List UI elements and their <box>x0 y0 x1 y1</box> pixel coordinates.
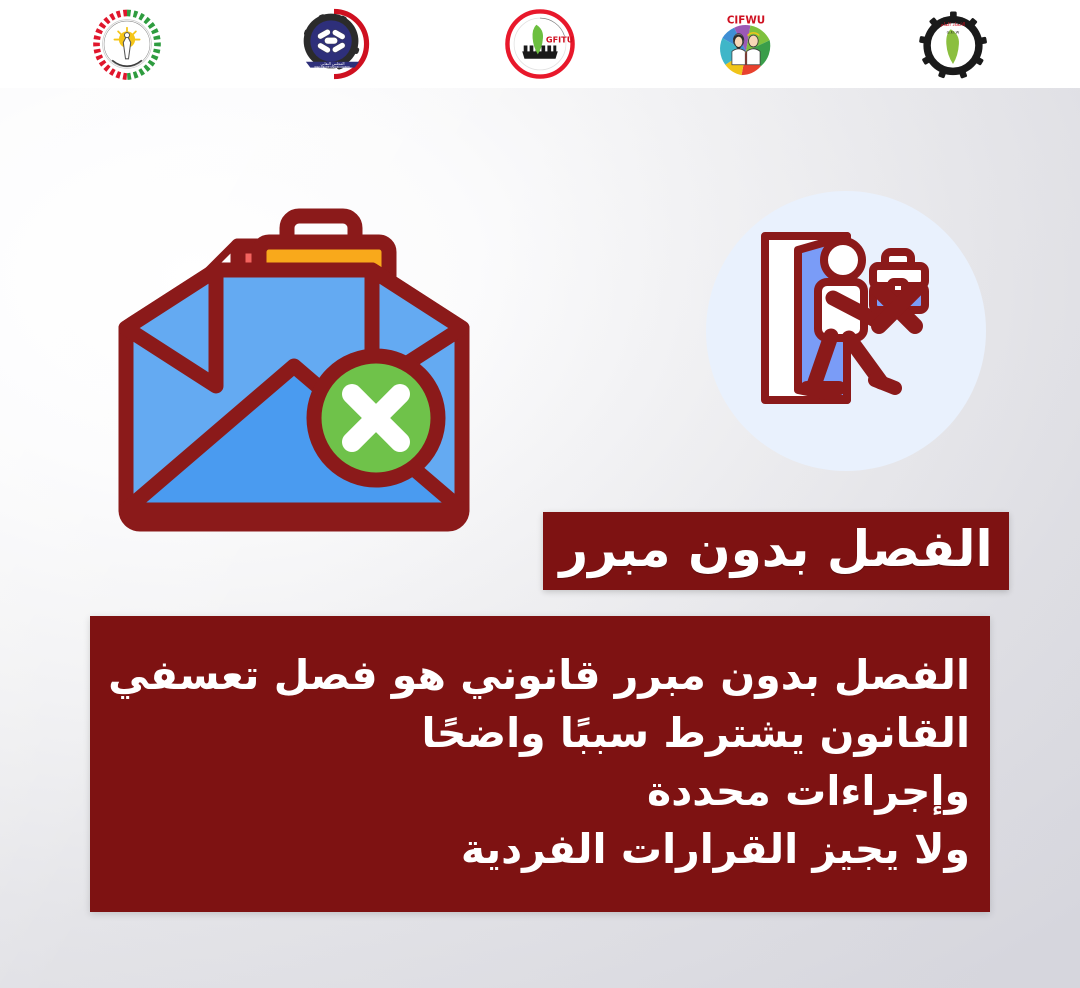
worker-leaving-door-icon <box>703 188 989 474</box>
poster-body-block: الفصل بدون مبرر قانوني هو فصل تعسفي القا… <box>90 616 990 912</box>
poster-root: المجلس النقابي IRAQ TRADE UNION COUNCIL <box>0 0 1080 988</box>
body-line-1: الفصل بدون مبرر قانوني هو فصل تعسفي <box>104 646 976 704</box>
svg-text:CIFWU: CIFWU <box>727 14 765 26</box>
color-wheel-two-workers: CIFWU <box>720 14 770 75</box>
page-title: الفصل بدون مبرر <box>559 524 992 578</box>
gfitu-logo: GFITU <box>503 7 577 81</box>
body-line-3: وإجراءات محددة <box>104 762 976 820</box>
general-federation-of-iraqi-workers-logo: الاتحاد العام G.F.I.W <box>916 7 990 81</box>
termination-letter-icon <box>104 168 484 552</box>
red-ring-gear-iraq-map: GFITU <box>507 11 573 76</box>
body-line-2: القانون يشترط سببًا واضحًا <box>104 704 976 762</box>
gear-hands-circle-banner: المجلس النقابي IRAQ TRADE UNION COUNCIL <box>303 11 366 76</box>
iraq-trade-union-council-logo: المجلس النقابي IRAQ TRADE UNION COUNCIL <box>297 7 371 81</box>
cifwu-logo: CIFWU <box>709 7 783 81</box>
svg-text:GFITU: GFITU <box>546 35 573 45</box>
x-cancel-badge <box>314 356 438 480</box>
body-line-4: ولا يجيز القرارات الفردية <box>104 820 976 878</box>
wreath-gear-sun-emblem <box>97 13 158 77</box>
black-gear-iraq-map: الاتحاد العام G.F.I.W <box>919 11 987 78</box>
iraqi-federation-of-industries-logo <box>90 7 164 81</box>
svg-text:الاتحاد العام: الاتحاد العام <box>940 22 965 28</box>
poster-title-banner: الفصل بدون مبرر <box>543 512 1009 590</box>
svg-text:G.F.I.W: G.F.I.W <box>946 31 959 35</box>
partner-logo-strip: المجلس النقابي IRAQ TRADE UNION COUNCIL <box>0 0 1080 88</box>
svg-text:IRAQ TRADE UNION COUNCIL: IRAQ TRADE UNION COUNCIL <box>314 65 351 69</box>
